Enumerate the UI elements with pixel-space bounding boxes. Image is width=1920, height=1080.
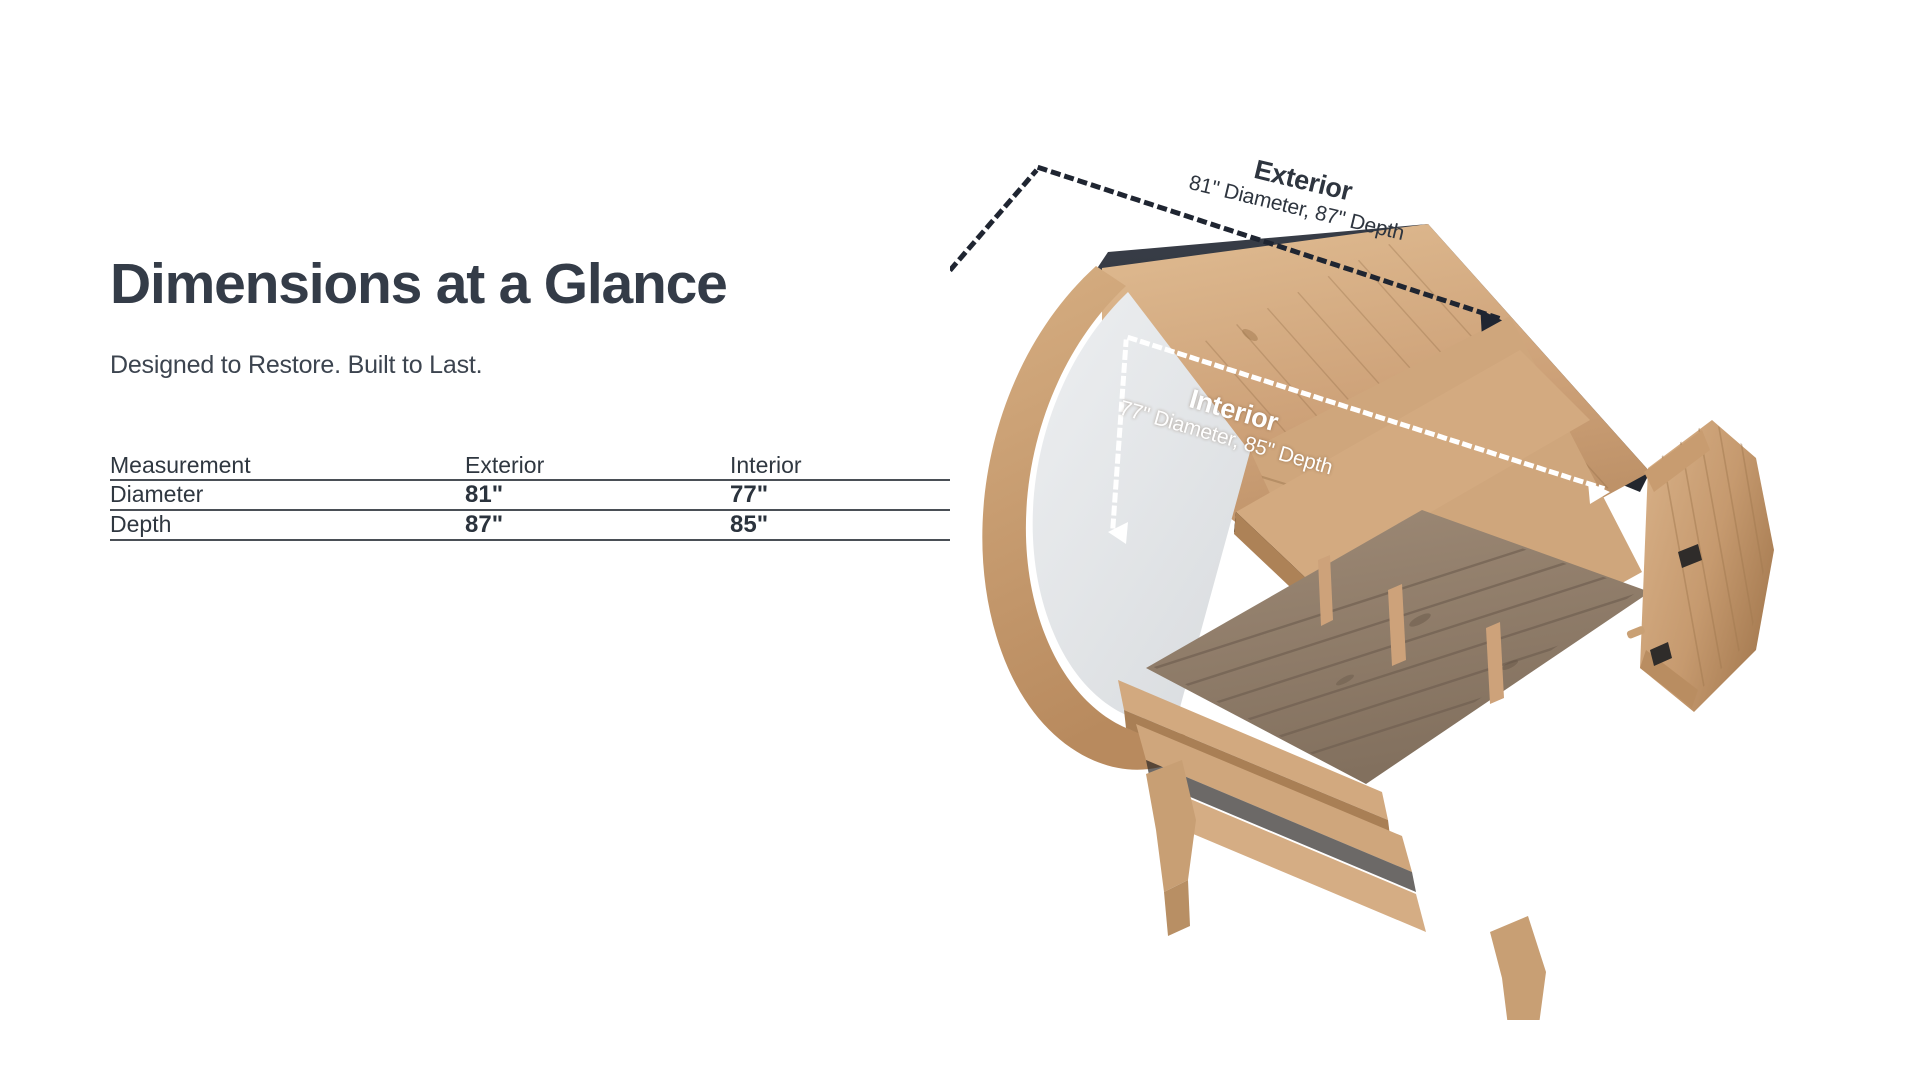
dimensions-page: Dimensions at a Glance Designed to Resto… <box>0 0 1920 1080</box>
page-subtitle: Designed to Restore. Built to Last. <box>110 351 990 380</box>
barrel-end-cap <box>1640 410 1786 720</box>
sauna-illustration: Exterior 81" Diameter, 87" Depth Interio… <box>950 120 1920 1020</box>
cell-diameter-exterior: 81" <box>465 480 730 510</box>
cell-depth-interior: 85" <box>730 510 950 540</box>
column-header-measurement: Measurement <box>110 452 465 480</box>
table-row: Depth 87" 85" <box>110 510 950 540</box>
table-row: Diameter 81" 77" <box>110 480 950 510</box>
column-header-interior: Interior <box>730 452 950 480</box>
cell-diameter-interior: 77" <box>730 480 950 510</box>
table-header: Measurement Exterior Interior <box>110 452 950 480</box>
column-header-exterior: Exterior <box>465 452 730 480</box>
table-header-row: Measurement Exterior Interior <box>110 452 950 480</box>
barrel-sauna-graphic <box>950 120 1920 1020</box>
page-title: Dimensions at a Glance <box>110 255 990 315</box>
cell-depth-exterior: 87" <box>465 510 730 540</box>
row-label-depth: Depth <box>110 510 465 540</box>
row-label-diameter: Diameter <box>110 480 465 510</box>
dimensions-table: Measurement Exterior Interior Diameter 8… <box>110 452 950 541</box>
table-body: Diameter 81" 77" Depth 87" 85" <box>110 480 950 540</box>
left-content-panel: Dimensions at a Glance Designed to Resto… <box>110 255 990 541</box>
